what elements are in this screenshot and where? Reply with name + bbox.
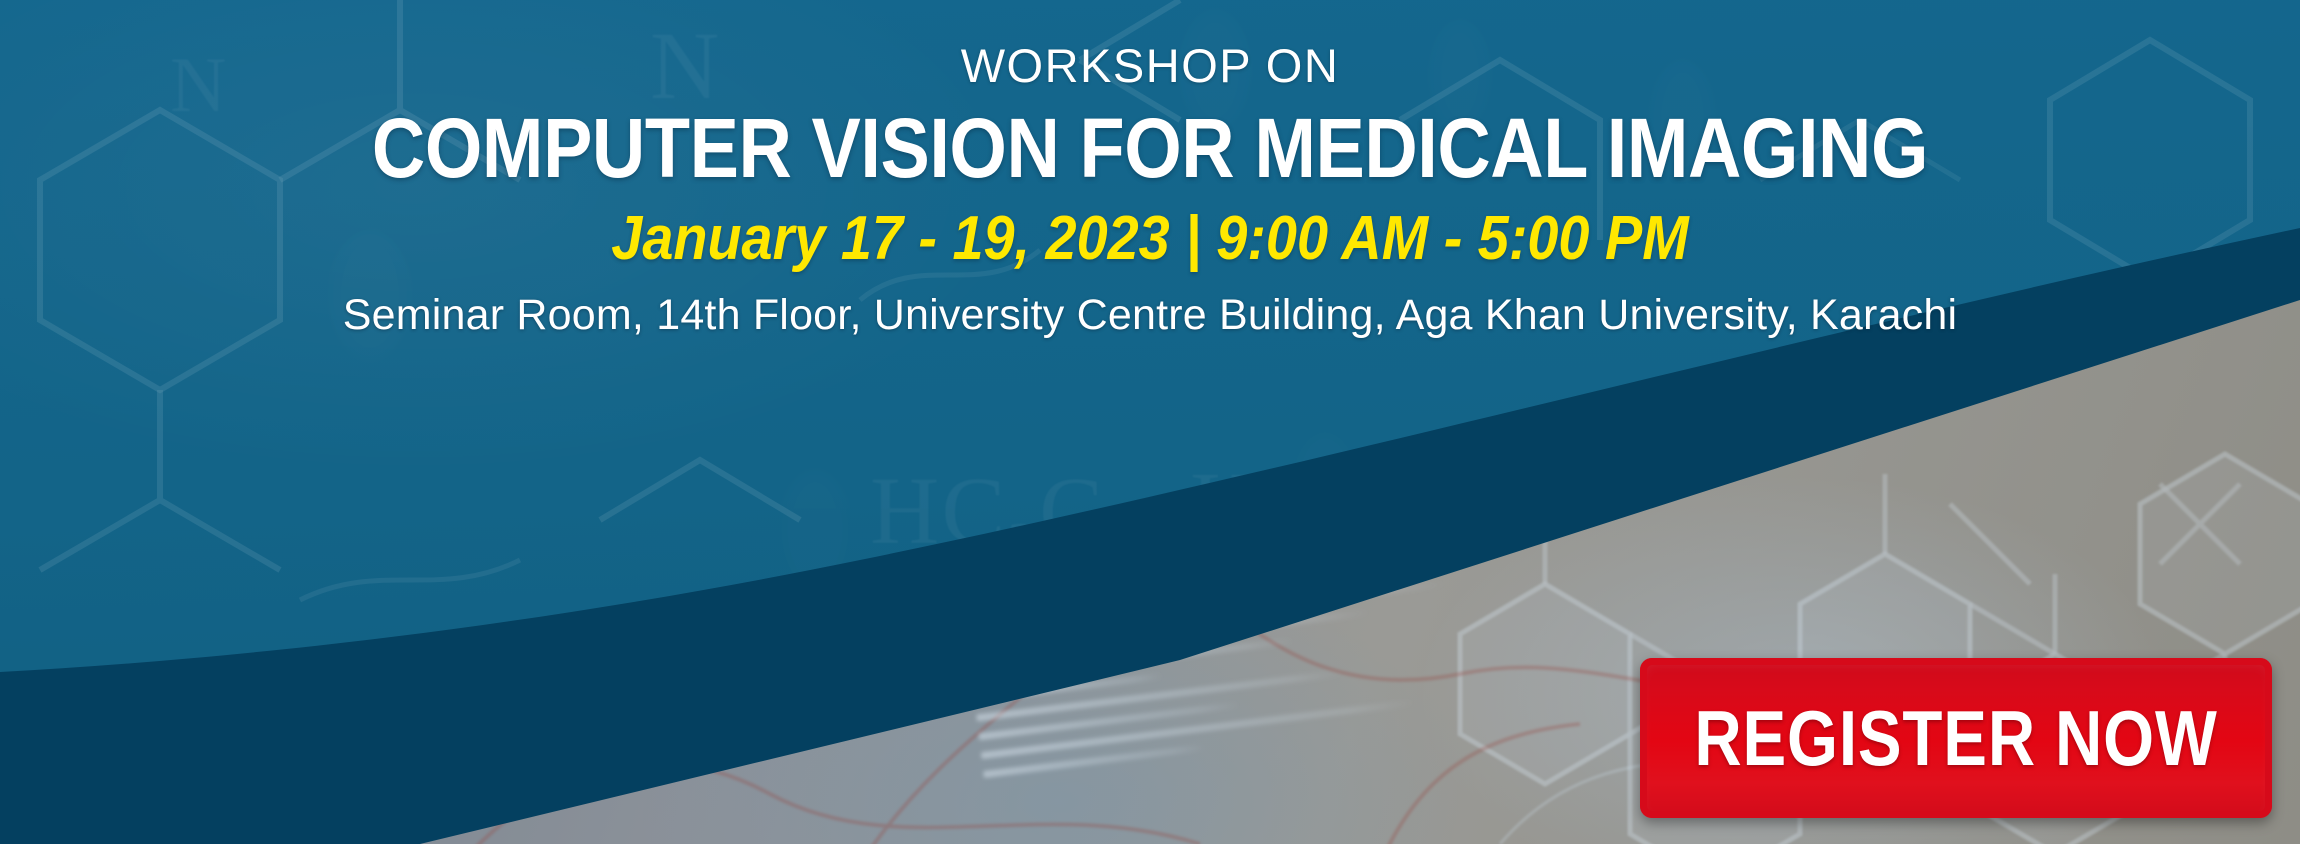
workshop-schedule: January 17 - 19, 2023 | 9:00 AM - 5:00 P… [115,208,2185,270]
register-now-label: REGISTER NOW [1691,658,2222,818]
workshop-promo-banner: N N HC2C H O N WORKSHOP ON COMPUTER VISI… [0,0,2300,844]
workshop-venue: Seminar Room, 14th Floor, University Cen… [0,292,2300,339]
workshop-eyebrow: WORKSHOP ON [0,0,2300,92]
register-now-button[interactable]: REGISTER NOW [1640,658,2272,818]
workshop-title: COMPUTER VISION FOR MEDICAL IMAGING [138,106,2162,190]
banner-copy: WORKSHOP ON COMPUTER VISION FOR MEDICAL … [0,0,2300,339]
